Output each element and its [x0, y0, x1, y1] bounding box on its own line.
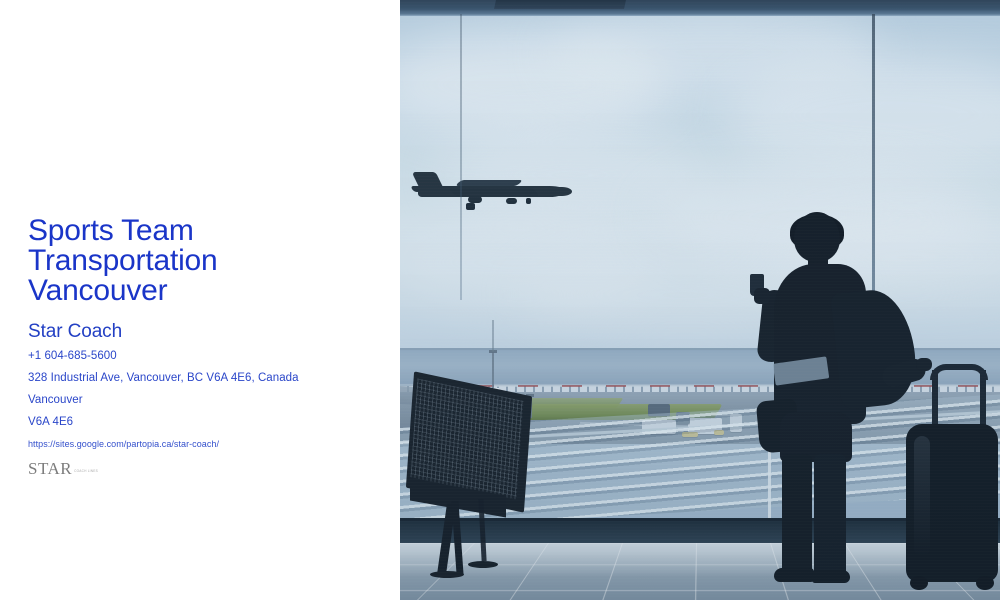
- airplane-engine: [468, 196, 482, 203]
- brand-logo-tagline: COACH LINES: [74, 469, 98, 473]
- traveler-silhouette: [752, 212, 932, 600]
- traveler-left-shoe: [774, 568, 814, 582]
- brand-logo-wordmark: STAR: [28, 460, 72, 477]
- suitcase-highlight: [914, 436, 930, 556]
- business-info-block: Sports Team Transportation Vancouver Sta…: [28, 216, 384, 452]
- bench-foot: [468, 561, 498, 568]
- street-address: 328 Industrial Ave, Vancouver, BC V6A 4E…: [28, 367, 384, 389]
- airplane-landing-gear: [526, 198, 531, 204]
- window-mullion: [460, 14, 462, 300]
- rolling-suitcase-silhouette: [906, 340, 1000, 598]
- airplane-tailplane: [410, 186, 443, 192]
- suitcase-wheel: [976, 576, 994, 590]
- traveler-head: [794, 212, 840, 262]
- ceiling-seam: [494, 0, 626, 9]
- suitcase-wheel: [910, 576, 928, 590]
- traveler-right-leg: [814, 454, 846, 576]
- suitcase-handle-post: [932, 370, 938, 428]
- terminal-bench-silhouette: [410, 383, 560, 573]
- airplane-nose: [552, 187, 572, 196]
- business-info-panel: Sports Team Transportation Vancouver Sta…: [0, 0, 400, 600]
- suitcase-handle-post: [980, 370, 986, 428]
- airport-terminal-photo: [400, 0, 1000, 600]
- airplane-silhouette: [410, 172, 570, 218]
- bench-foot: [430, 571, 464, 578]
- airplane-landing-gear: [466, 203, 475, 210]
- brand-logo: STAR COACH LINES: [28, 453, 148, 477]
- page-title: Sports Team Transportation Vancouver: [28, 216, 384, 306]
- traveler-left-leg: [782, 454, 812, 574]
- antenna-mast: [492, 320, 494, 352]
- bench-leg: [451, 501, 463, 575]
- phone-number[interactable]: +1 604-685-5600: [28, 345, 384, 367]
- business-card-page: Sports Team Transportation Vancouver Sta…: [0, 0, 1000, 600]
- airplane-main-wing: [448, 188, 539, 196]
- address-city: Vancouver: [28, 389, 384, 411]
- business-name: Star Coach: [28, 321, 384, 343]
- terminal-ceiling-band: [400, 0, 1000, 16]
- website-url-link[interactable]: https://sites.google.com/partopia.ca/sta…: [28, 436, 384, 452]
- airplane-engine: [506, 198, 517, 204]
- traveler-left-hand: [754, 288, 770, 304]
- traveler-right-shoe: [812, 570, 850, 583]
- address-postal-code: V6A 4E6: [28, 411, 384, 433]
